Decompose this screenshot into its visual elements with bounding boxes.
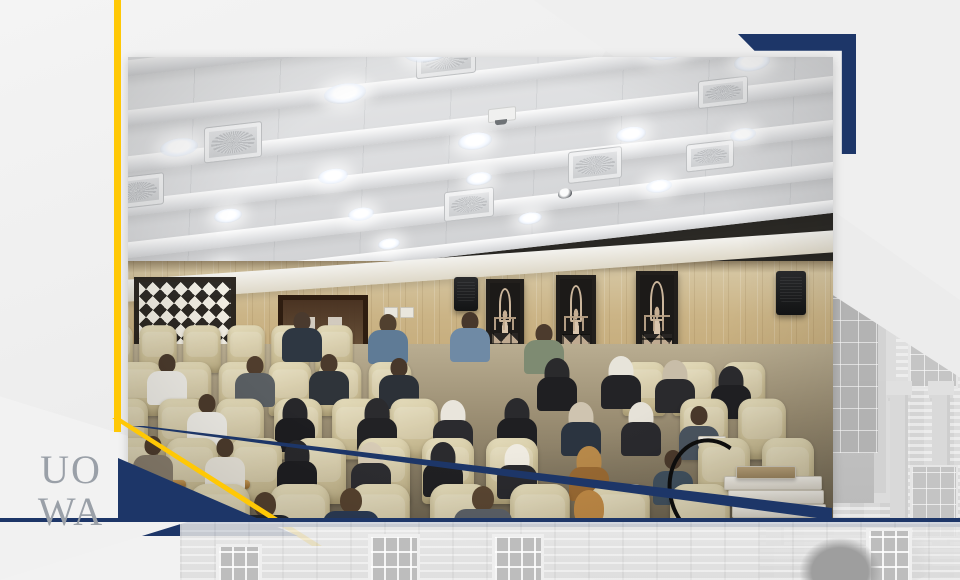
ac-vent (444, 187, 494, 223)
logo-alt-text: University of Warith Al-Anbiyaa logo (28, 532, 29, 533)
ac-vent (686, 139, 734, 172)
person-head (472, 486, 494, 511)
event-photo-content (128, 57, 833, 520)
event-photo (128, 57, 833, 520)
person-head (340, 488, 362, 513)
watermark-column-capital (886, 381, 912, 395)
person-head (690, 406, 707, 425)
audience-member-front-row (558, 490, 620, 520)
ac-vent (128, 172, 164, 210)
person-head (216, 438, 233, 457)
watermark-window (216, 544, 262, 580)
ac-vent (568, 146, 622, 184)
lower-building-watermark (0, 522, 960, 580)
ac-vent (698, 76, 748, 110)
uowa-logo[interactable]: UO WA University of Warith Al-Anbiyaa lo… (28, 450, 114, 534)
watermark-window (368, 534, 420, 580)
audience-member-front-row (452, 486, 514, 520)
yellow-vertical-accent (114, 0, 121, 432)
banner-canvas: UO WA University of Warith Al-Anbiyaa lo… (0, 0, 960, 580)
person-head (198, 394, 215, 413)
audience-member-front-row (320, 488, 382, 520)
logo-line-2: WA (28, 492, 114, 532)
stacked-books (736, 466, 796, 479)
ac-vent (204, 121, 262, 164)
watermark-column-capital (928, 381, 954, 395)
person-headscarf (574, 490, 604, 520)
logo-line-1: UO (28, 450, 114, 490)
watermark-window (492, 534, 544, 580)
watermark-shrub (800, 538, 880, 580)
watermark-window (908, 295, 958, 389)
